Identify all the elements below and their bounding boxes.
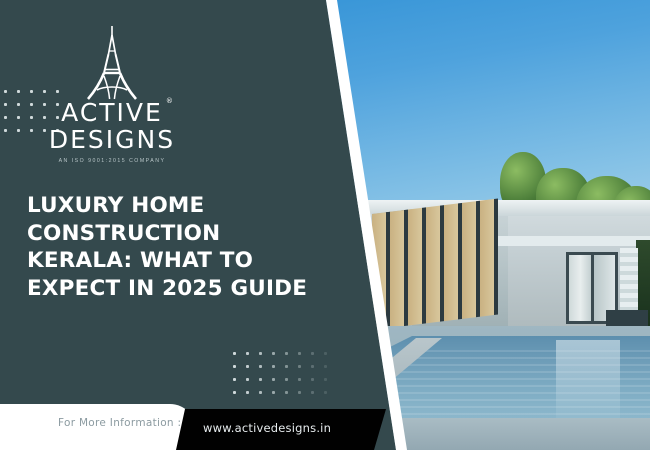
dot-grid-center — [233, 352, 327, 394]
dot — [272, 391, 275, 394]
dot — [259, 391, 262, 394]
dot — [17, 90, 20, 93]
dot — [246, 365, 249, 368]
villa-sliding-doors — [372, 199, 498, 330]
dot — [272, 352, 275, 355]
dot — [259, 365, 262, 368]
dot — [324, 352, 327, 355]
dot — [259, 378, 262, 381]
brand-logo: ACTIVE ® DESIGNS AN ISO 9001:2015 COMPAN… — [32, 24, 192, 164]
dot — [233, 365, 236, 368]
logo-wordmark-primary: ACTIVE ® — [61, 100, 163, 127]
dot — [324, 378, 327, 381]
dot — [4, 129, 7, 132]
dot — [4, 103, 7, 106]
dot — [246, 352, 249, 355]
door-mullion — [591, 252, 594, 324]
dot — [324, 365, 327, 368]
pool-reflection — [556, 340, 620, 424]
dot — [311, 391, 314, 394]
dot — [298, 352, 301, 355]
dot — [17, 116, 20, 119]
dot — [17, 129, 20, 132]
logo-tagline: AN ISO 9001:2015 COMPANY — [32, 158, 192, 164]
dot — [285, 391, 288, 394]
dot — [4, 90, 7, 93]
dot — [246, 378, 249, 381]
dot — [298, 378, 301, 381]
website-url-link[interactable]: www.activedesigns.in — [203, 421, 331, 435]
footer-label: For More Information : — [58, 417, 181, 429]
dot — [233, 378, 236, 381]
dot — [272, 365, 275, 368]
dot — [272, 378, 275, 381]
dot — [233, 391, 236, 394]
dot — [298, 391, 301, 394]
eiffel-tower-icon — [32, 24, 192, 100]
dot — [246, 391, 249, 394]
dot — [311, 378, 314, 381]
logo-wordmark-primary-text: ACTIVE — [61, 98, 163, 127]
logo-wordmark-secondary: DESIGNS — [32, 127, 192, 154]
registered-trademark-icon: ® — [166, 98, 173, 105]
dot — [324, 391, 327, 394]
dot — [17, 103, 20, 106]
outdoor-bench — [606, 310, 648, 326]
dot — [311, 365, 314, 368]
page-title: Luxury Home Construction Kerala: What to… — [27, 192, 332, 302]
dot — [285, 352, 288, 355]
promo-banner: ACTIVE ® DESIGNS AN ISO 9001:2015 COMPAN… — [0, 0, 650, 450]
dot — [285, 365, 288, 368]
dot — [233, 352, 236, 355]
dot — [311, 352, 314, 355]
dot — [285, 378, 288, 381]
dot — [4, 116, 7, 119]
dot — [298, 365, 301, 368]
dot — [259, 352, 262, 355]
